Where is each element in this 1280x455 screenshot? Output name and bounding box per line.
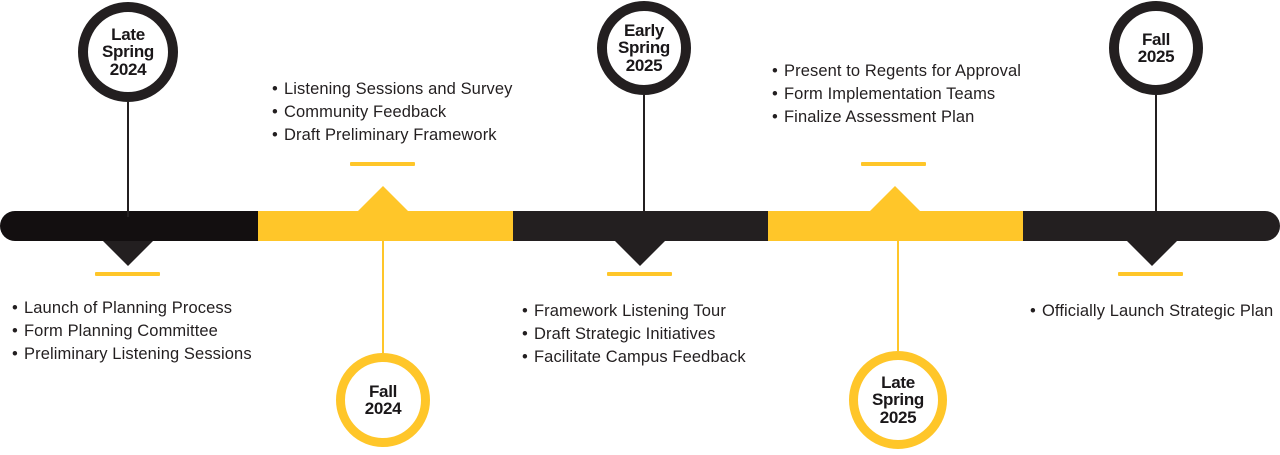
connector-line-late-spring-2025 bbox=[897, 241, 899, 351]
accent-dash-early-spring-2025 bbox=[607, 272, 672, 276]
timeline-bar-segment-5 bbox=[1023, 211, 1280, 241]
list-item: Finalize Assessment Plan bbox=[772, 106, 1021, 129]
list-item: Draft Strategic Initiatives bbox=[522, 323, 746, 346]
connector-line-early-spring-2025 bbox=[643, 95, 645, 217]
milestone-circle-fall-2024[interactable]: Fall 2024 bbox=[336, 353, 430, 447]
milestone-circle-early-spring-2025[interactable]: Early Spring 2025 bbox=[597, 1, 691, 95]
bullet-list-fall-2024: Listening Sessions and SurveyCommunity F… bbox=[272, 78, 513, 147]
timeline-bar-segment-3 bbox=[513, 211, 768, 241]
accent-dash-fall-2025 bbox=[1118, 272, 1183, 276]
timeline-bar-segment-2 bbox=[258, 211, 513, 241]
accent-dash-late-spring-2024 bbox=[95, 272, 160, 276]
connector-line-fall-2024 bbox=[382, 241, 384, 353]
timeline-diagram: Late Spring 2024Fall 2024Early Spring 20… bbox=[0, 0, 1280, 455]
milestone-marker-late-spring-2024 bbox=[103, 241, 153, 266]
milestone-circle-late-spring-2024[interactable]: Late Spring 2024 bbox=[78, 2, 178, 102]
milestone-circle-label-late-spring-2025: Late Spring 2025 bbox=[872, 374, 924, 426]
list-item: Draft Preliminary Framework bbox=[272, 124, 513, 147]
milestone-marker-late-spring-2025 bbox=[870, 186, 920, 211]
list-item: Listening Sessions and Survey bbox=[272, 78, 513, 101]
list-item: Community Feedback bbox=[272, 101, 513, 124]
milestone-circle-fall-2025[interactable]: Fall 2025 bbox=[1109, 1, 1203, 95]
timeline-bar bbox=[0, 211, 1280, 241]
connector-line-fall-2025 bbox=[1155, 95, 1157, 217]
list-item: Facilitate Campus Feedback bbox=[522, 346, 746, 369]
bullet-list-late-spring-2025: Present to Regents for ApprovalForm Impl… bbox=[772, 60, 1021, 129]
list-item: Officially Launch Strategic Plan bbox=[1030, 300, 1273, 323]
milestone-marker-fall-2025 bbox=[1127, 241, 1177, 266]
milestone-marker-fall-2024 bbox=[358, 186, 408, 211]
list-item: Form Implementation Teams bbox=[772, 83, 1021, 106]
timeline-bar-segment-1 bbox=[0, 211, 258, 241]
milestone-circle-label-late-spring-2024: Late Spring 2024 bbox=[102, 26, 154, 78]
bullet-list-late-spring-2024: Launch of Planning ProcessForm Planning … bbox=[12, 297, 252, 366]
timeline-bar-segment-4 bbox=[768, 211, 1023, 241]
milestone-circle-late-spring-2025[interactable]: Late Spring 2025 bbox=[849, 351, 947, 449]
milestone-circle-label-early-spring-2025: Early Spring 2025 bbox=[618, 22, 670, 74]
list-item: Framework Listening Tour bbox=[522, 300, 746, 323]
bullet-list-early-spring-2025: Framework Listening TourDraft Strategic … bbox=[522, 300, 746, 369]
list-item: Form Planning Committee bbox=[12, 320, 252, 343]
milestone-circle-label-fall-2025: Fall 2025 bbox=[1138, 31, 1175, 66]
bullet-list-fall-2025: Officially Launch Strategic Plan bbox=[1030, 300, 1273, 323]
list-item: Preliminary Listening Sessions bbox=[12, 343, 252, 366]
milestone-marker-early-spring-2025 bbox=[615, 241, 665, 266]
list-item: Launch of Planning Process bbox=[12, 297, 252, 320]
milestone-circle-label-fall-2024: Fall 2024 bbox=[365, 383, 402, 418]
accent-dash-fall-2024 bbox=[350, 162, 415, 166]
accent-dash-late-spring-2025 bbox=[861, 162, 926, 166]
list-item: Present to Regents for Approval bbox=[772, 60, 1021, 83]
connector-line-late-spring-2024 bbox=[127, 102, 129, 217]
